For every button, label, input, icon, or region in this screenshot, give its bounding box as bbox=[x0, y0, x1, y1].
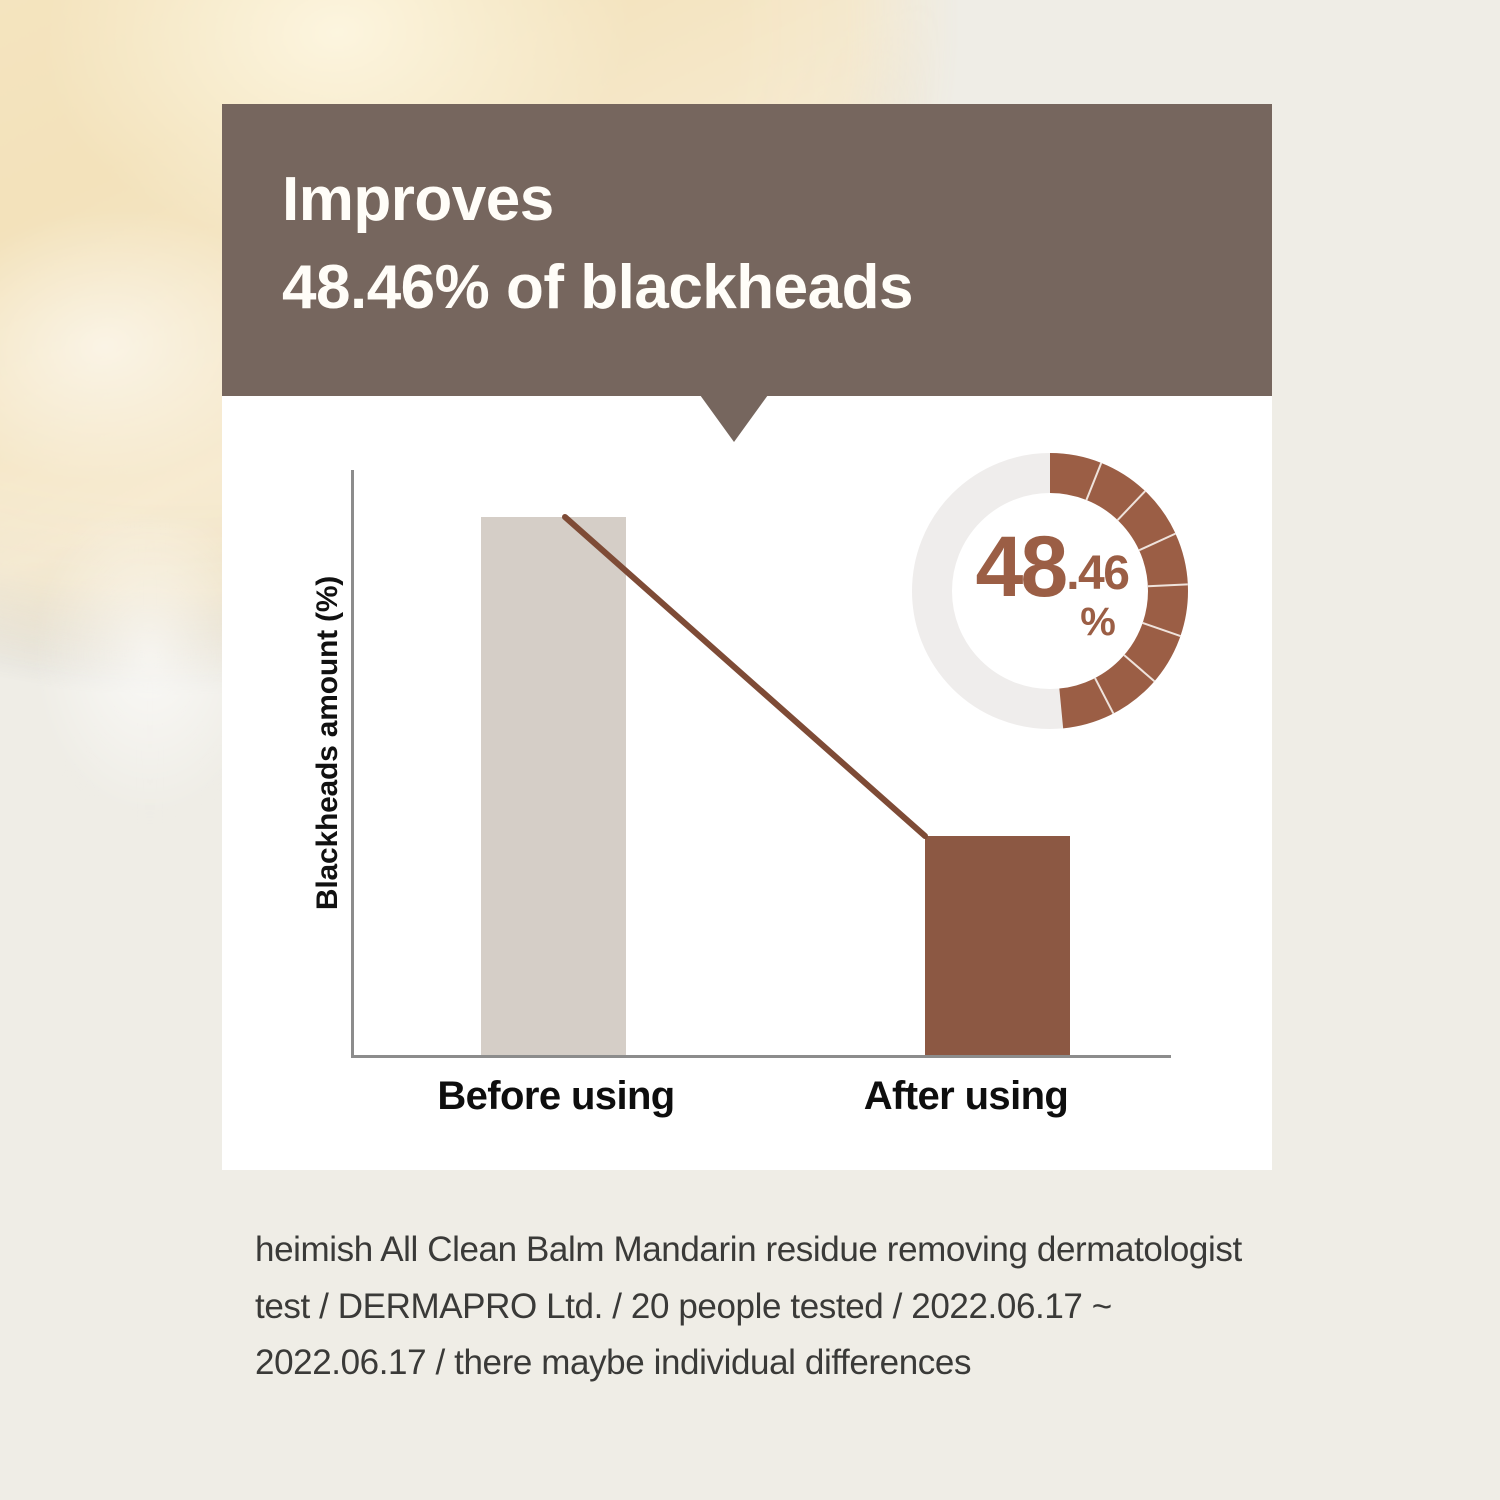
chart-card: Blackheads amount (%) Before using After… bbox=[222, 396, 1272, 1170]
y-axis-line bbox=[351, 470, 354, 1058]
speech-bubble-tail bbox=[700, 395, 768, 442]
infographic-root: Improves 48.46% of blackheads Blackheads… bbox=[0, 0, 1500, 1500]
x-tick-before: Before using bbox=[351, 1074, 761, 1119]
bar-after-using bbox=[925, 836, 1070, 1055]
x-tick-after: After using bbox=[761, 1074, 1171, 1119]
x-axis-tick-labels: Before using After using bbox=[351, 1074, 1171, 1119]
bar-before-using bbox=[481, 517, 626, 1055]
donut-value-fraction: .46 bbox=[1066, 552, 1128, 595]
bar-chart: Blackheads amount (%) Before using After… bbox=[222, 396, 1272, 1170]
donut-center-label: 48 .46 % bbox=[905, 446, 1195, 736]
donut-value-integer: 48 bbox=[976, 528, 1066, 607]
donut-percent-sign: % bbox=[1080, 602, 1116, 642]
caption-text: heimish All Clean Balm Mandarin residue … bbox=[255, 1222, 1255, 1392]
donut-gauge: 48 .46 % bbox=[905, 446, 1195, 736]
header-banner: Improves 48.46% of blackheads bbox=[222, 104, 1272, 396]
x-axis-line bbox=[351, 1055, 1171, 1058]
page-title: Improves 48.46% of blackheads bbox=[282, 156, 913, 332]
y-axis-label: Blackheads amount (%) bbox=[311, 523, 345, 963]
